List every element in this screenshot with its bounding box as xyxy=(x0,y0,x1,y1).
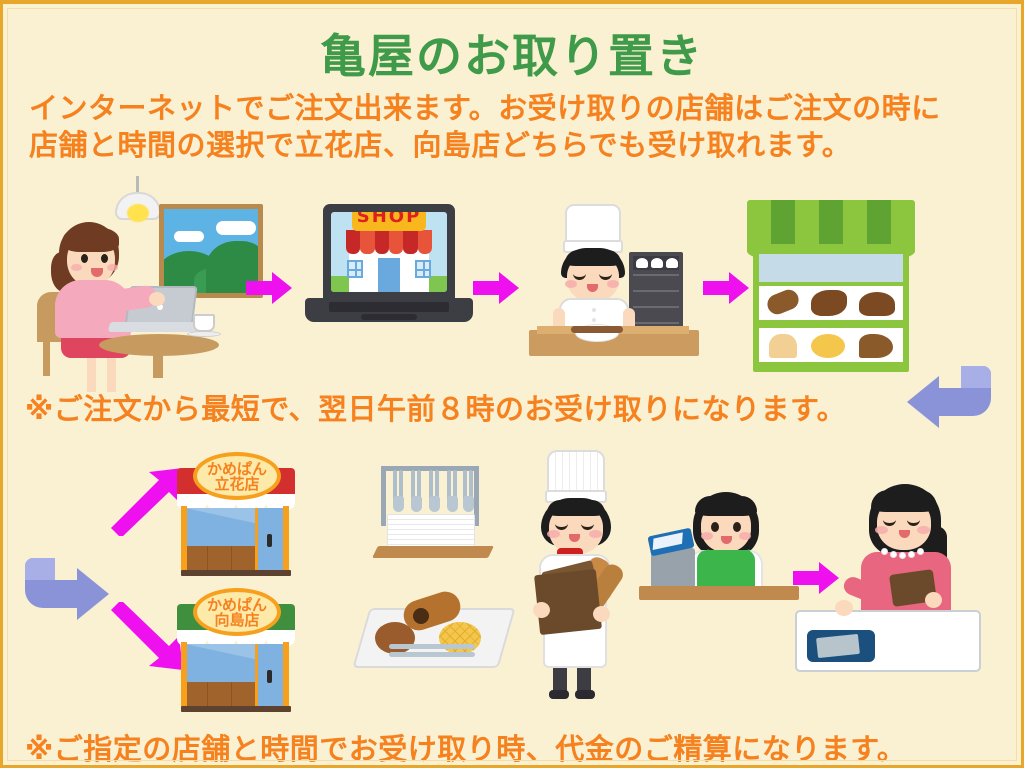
flow-arrow-3 xyxy=(703,272,751,304)
shelf-glass xyxy=(759,254,903,282)
shelf-row-bottom xyxy=(759,328,903,362)
cheek-left xyxy=(565,280,577,288)
stacked-trays xyxy=(387,514,475,548)
shop-sign-tachibana: かめぱん 立花店 xyxy=(193,452,281,500)
shopfront-tachibana[interactable]: かめぱん 立花店 xyxy=(171,450,301,578)
bun-3 xyxy=(666,258,678,268)
shop-door xyxy=(378,258,400,292)
chair-leg xyxy=(43,338,50,376)
scene-baker-kneading xyxy=(523,204,703,359)
return-arrow-left xyxy=(899,362,995,432)
hair-bangs xyxy=(695,496,757,516)
shop-name-line-2: 向島店 xyxy=(197,613,277,628)
hand-right xyxy=(925,592,942,608)
door-handle xyxy=(267,670,272,683)
lamp-bulb xyxy=(127,204,149,222)
tongs-4 xyxy=(447,470,458,514)
cheek-left xyxy=(71,264,82,271)
laptop-screen: SHOP xyxy=(323,204,455,300)
eye-left xyxy=(81,254,88,263)
button-1 xyxy=(592,308,596,312)
counter xyxy=(639,586,799,600)
page-title: 亀屋のお取り置き xyxy=(3,20,1021,86)
scene-bread-tray xyxy=(361,586,511,676)
cheek-right xyxy=(607,280,619,288)
scene-online-shop: SHOP xyxy=(305,204,473,354)
bread-melon-pan xyxy=(811,334,845,358)
cheek-left xyxy=(547,530,560,538)
flow-arrow-2 xyxy=(473,272,521,304)
rolling-pin xyxy=(571,326,623,333)
button-2 xyxy=(592,318,596,322)
hair-bangs xyxy=(63,226,119,252)
hair-bangs xyxy=(871,490,937,512)
laptop-keyboard xyxy=(108,322,200,332)
wooden-board xyxy=(372,546,494,558)
base xyxy=(181,706,291,712)
laptop-trackpad xyxy=(361,314,417,320)
bun-1 xyxy=(636,258,648,268)
chef-hat-icon xyxy=(547,450,605,494)
hand xyxy=(149,292,165,306)
scene-tray-rack xyxy=(373,456,493,566)
shoe-right xyxy=(575,690,595,699)
chef-hat-icon xyxy=(565,204,621,244)
scene-baker-with-bread xyxy=(513,450,643,700)
hand-right xyxy=(593,606,610,622)
lead-line-1: インターネットでご注文出来ます。お受け取りの店舗はご注文の時に xyxy=(29,90,1009,127)
tongs-1 xyxy=(393,470,404,514)
hair-bangs xyxy=(547,500,605,516)
shop-sign-mukojima: かめぱん 向島店 xyxy=(193,588,281,636)
cloud-1 xyxy=(174,231,204,242)
laptop-keys xyxy=(329,302,449,312)
cheek-right xyxy=(589,530,602,538)
wood-panel xyxy=(185,546,255,572)
table-leg xyxy=(153,348,163,378)
pearl-necklace xyxy=(881,548,927,558)
base xyxy=(181,570,291,576)
cheek-left xyxy=(875,526,888,534)
tongs xyxy=(389,644,475,658)
coffee-cup xyxy=(193,314,215,332)
shelf-row-top xyxy=(759,286,903,320)
blue-curved-arrow-left-icon xyxy=(899,362,995,432)
eye-left xyxy=(711,522,719,532)
poster-root: 亀屋のお取り置き インターネットでご注文出来ます。お受け取りの店舗はご注文の時に… xyxy=(0,0,1024,768)
cheek-right xyxy=(739,532,751,540)
bread-cornet xyxy=(859,334,893,358)
note-payment: ※ご指定の店舗と時間でお受け取り時、代金のご精算になります。 xyxy=(25,726,906,768)
bread-loaf-slice xyxy=(769,334,797,358)
cheek-right xyxy=(917,526,930,534)
bun-2 xyxy=(651,258,663,268)
shop-awning xyxy=(346,230,432,254)
wood-panel xyxy=(185,682,255,708)
rack-leg-left xyxy=(381,466,386,526)
shopfront-mukojima[interactable]: かめぱん 向島店 xyxy=(171,586,301,714)
hand-left xyxy=(835,600,853,616)
cheek-right xyxy=(107,264,118,271)
tongs-3 xyxy=(429,470,440,514)
cornet-hole xyxy=(413,608,429,624)
bread-croissant xyxy=(811,290,847,316)
green-apron xyxy=(697,550,755,590)
note-pickup-time: ※ご注文から最短で、翌日午前８時のお受け取りになります。 xyxy=(25,386,846,428)
eye-right xyxy=(101,254,108,263)
shop-window-left xyxy=(347,260,363,278)
cloud-2 xyxy=(216,221,256,235)
tongs-5 xyxy=(463,470,474,514)
post-right xyxy=(283,642,289,708)
tongs-2 xyxy=(411,470,422,514)
hair-bangs xyxy=(565,250,621,266)
scene-customer-paying xyxy=(829,484,999,684)
shop-window-right xyxy=(415,260,431,278)
lead-line-2: 店舗と時間の選択で立花店、向島店どちらでも受け取れます。 xyxy=(29,127,1009,164)
post-left xyxy=(181,506,187,572)
bread-chocolate-bun xyxy=(859,292,895,316)
scene-cashier xyxy=(639,492,799,632)
hand-left xyxy=(533,602,550,618)
door-handle xyxy=(267,534,272,547)
lead-paragraph: インターネットでご注文出来ます。お受け取りの店舗はご注文の時に 店舗と時間の選択… xyxy=(29,90,1009,164)
post-right xyxy=(283,506,289,572)
flow-arrow-1 xyxy=(246,272,294,304)
shoe-left xyxy=(549,690,569,699)
scene-bakery-shelf xyxy=(747,200,915,376)
shop-name-line-2: 立花店 xyxy=(197,477,277,492)
post-left xyxy=(181,642,187,708)
shop-sign-label: SHOP xyxy=(352,212,426,231)
cheek-left xyxy=(701,532,713,540)
bread-baguette xyxy=(764,287,801,318)
screen-content: SHOP xyxy=(331,212,447,292)
eye-right xyxy=(733,522,741,532)
